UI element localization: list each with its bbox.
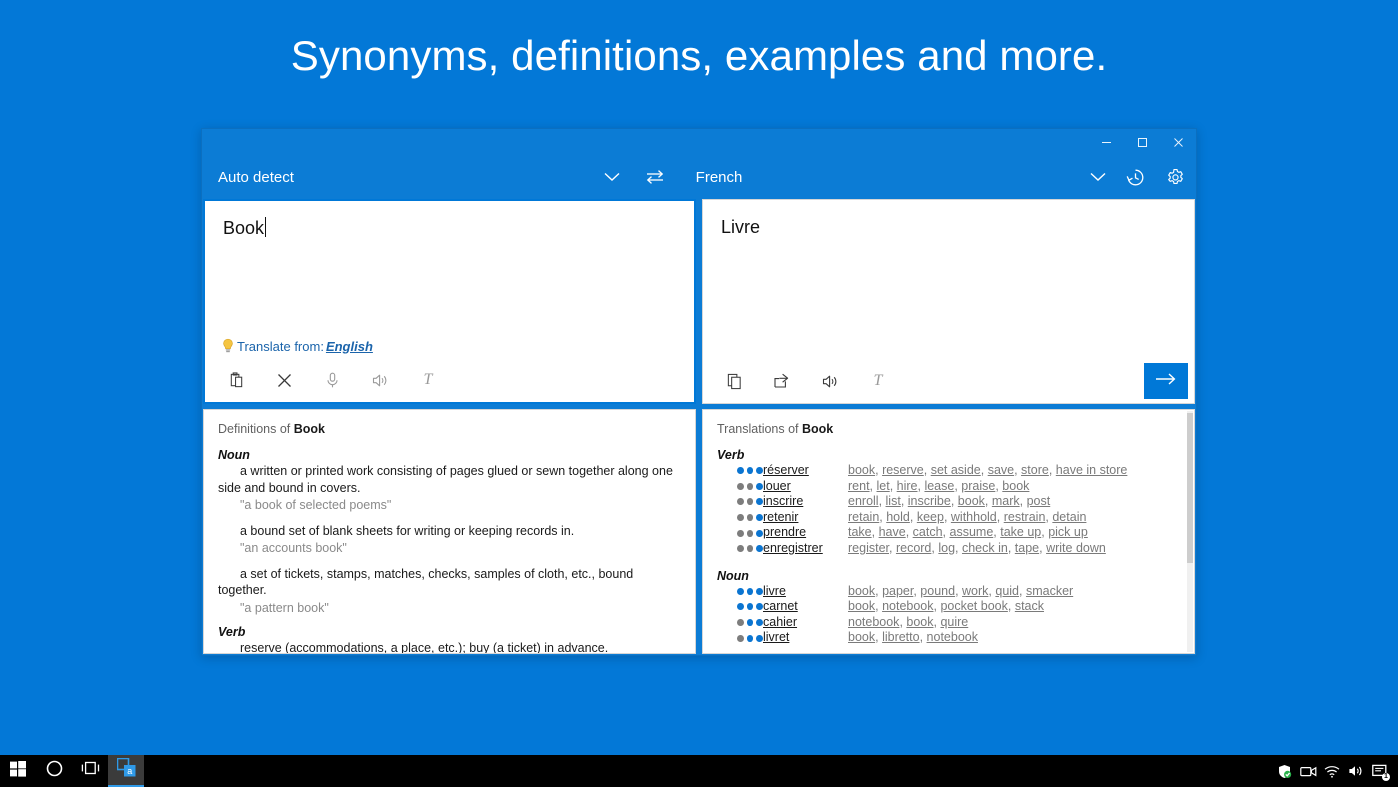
close-button[interactable] [1160, 129, 1196, 155]
definitions-card: Definitions of Book Nouna written or pri… [203, 409, 696, 654]
back-translation-word[interactable]: hold [886, 510, 910, 524]
source-language-selector[interactable]: Auto detect [202, 155, 629, 199]
back-translation-word[interactable]: record [896, 541, 931, 555]
back-translation-word[interactable]: libretto [882, 630, 920, 644]
back-translation-word[interactable]: work [962, 584, 988, 598]
confidence-dot [737, 545, 744, 552]
confidence-dot [747, 530, 754, 537]
lightbulb-icon [221, 338, 235, 354]
translation-group: Verbréserverbook, reserve, set aside, sa… [717, 448, 1180, 557]
back-translation-word[interactable]: praise [961, 479, 995, 493]
confidence-dots [717, 635, 763, 642]
confidence-dot [737, 588, 744, 595]
translation-row[interactable]: inscrireenroll, list, inscribe, book, ma… [717, 494, 1180, 510]
translation-row[interactable]: carnetbook, notebook, pocket book, stack [717, 599, 1180, 615]
history-icon[interactable] [1115, 155, 1156, 199]
confidence-dots [717, 588, 763, 595]
back-translation-word[interactable]: log [938, 541, 955, 555]
translator-app-window: Auto detect French [201, 128, 1197, 656]
definition-sense: a written or printed work consisting of … [218, 463, 681, 514]
back-translations: book, paper, pound, work, quid, smacker [848, 584, 1073, 600]
camera-tray-icon[interactable] [1296, 755, 1320, 787]
back-translation-word[interactable]: book [848, 599, 875, 613]
ink-text-button[interactable]: T [413, 365, 443, 395]
back-translations: take, have, catch, assume, take up, pick… [848, 525, 1088, 541]
confidence-dot [756, 635, 763, 642]
back-translation-word[interactable]: stack [1015, 599, 1044, 613]
back-translation-word[interactable]: notebook [848, 615, 899, 629]
gear-icon[interactable] [1155, 155, 1196, 199]
translate-go-button[interactable] [1144, 363, 1188, 399]
definition-example: "an accounts book" [218, 540, 681, 557]
text-t-icon: T [424, 371, 433, 389]
confidence-dots [717, 483, 763, 490]
translator-app-icon: a [117, 758, 136, 782]
back-translations: rent, let, hire, lease, praise, book [848, 479, 1029, 495]
back-translation-word[interactable]: notebook [927, 630, 978, 644]
chevron-down-icon[interactable] [1081, 155, 1115, 199]
back-translation-word[interactable]: catch [913, 525, 943, 539]
translation-row[interactable]: livrebook, paper, pound, work, quid, sma… [717, 584, 1180, 600]
target-toolbar: T [703, 359, 1194, 403]
back-translation-word[interactable]: paper [882, 584, 913, 598]
back-translation-word[interactable]: set aside [931, 463, 981, 477]
share-button[interactable] [767, 366, 797, 396]
notification-badge: 1 [1382, 773, 1390, 781]
swap-languages-button[interactable] [629, 155, 679, 199]
confidence-dot [737, 635, 744, 642]
back-translations: register, record, log, check in, tape, w… [848, 541, 1106, 557]
confidence-dot [747, 635, 754, 642]
confidence-dot [737, 483, 744, 490]
translation-row[interactable]: enregistrerregister, record, log, check … [717, 541, 1180, 557]
translator-app-button[interactable]: a [108, 755, 144, 787]
target-text-card: Livre [702, 199, 1195, 404]
translations-scrollbar-thumb[interactable] [1187, 413, 1193, 563]
back-translation-word[interactable]: book [848, 463, 875, 477]
system-tray: 1 [1272, 755, 1398, 787]
translations-card: Translations of Book Verbréserverbook, r… [702, 409, 1195, 654]
copy-button[interactable] [719, 366, 749, 396]
back-translation-word[interactable]: register [848, 541, 889, 555]
translation-row[interactable]: réserverbook, reserve, set aside, save, … [717, 463, 1180, 479]
back-translation-word[interactable]: keep [917, 510, 944, 524]
confidence-dot [756, 498, 763, 505]
windows-taskbar: a [0, 755, 1398, 787]
back-translation-word[interactable]: mark [992, 494, 1020, 508]
translation-row[interactable]: cahiernotebook, book, quire [717, 615, 1180, 631]
confidence-dot [737, 603, 744, 610]
back-translation-word[interactable]: store [1021, 463, 1049, 477]
translation-word[interactable]: louer [763, 479, 848, 495]
source-text-value: Book [223, 218, 264, 238]
cortana-button[interactable] [36, 755, 72, 787]
minimize-button[interactable] [1088, 129, 1124, 155]
translation-row[interactable]: prendretake, have, catch, assume, take u… [717, 525, 1180, 541]
window-titlebar [202, 129, 1196, 155]
back-translations: enroll, list, inscribe, book, mark, post [848, 494, 1050, 510]
confidence-dots [717, 514, 763, 521]
back-translation-word[interactable]: assume [950, 525, 994, 539]
text-caret [265, 217, 266, 237]
back-translation-word[interactable]: take up [1000, 525, 1041, 539]
back-translations: book, libretto, notebook [848, 630, 978, 646]
back-translation-word[interactable]: take [848, 525, 872, 539]
taskbar-left-items: a [0, 755, 144, 787]
confidence-dot [756, 588, 763, 595]
back-translation-word[interactable]: enroll [848, 494, 879, 508]
part-of-speech-label: Noun [717, 569, 1180, 583]
ink-text-button[interactable]: T [863, 366, 893, 396]
confidence-dot [756, 514, 763, 521]
source-text-card: Book Translate from: English [203, 199, 696, 404]
definition-text: a bound set of blank sheets for writing … [218, 523, 681, 540]
back-translation-word[interactable]: book [906, 615, 933, 629]
definition-sense: reserve (accommodations, a place, etc.);… [218, 640, 681, 654]
translation-word[interactable]: réserver [763, 463, 848, 479]
confidence-dots [717, 545, 763, 552]
volume-tray-icon[interactable] [1344, 755, 1368, 787]
confidence-dot [747, 619, 754, 626]
back-translation-word[interactable]: reserve [882, 463, 924, 477]
translation-word[interactable]: prendre [763, 525, 848, 541]
back-translation-word[interactable]: inscribe [908, 494, 951, 508]
target-text-output: Livre [703, 200, 1194, 359]
source-language-label: Auto detect [218, 169, 595, 186]
back-translation-word[interactable]: write down [1046, 541, 1106, 555]
back-translations: retain, hold, keep, withhold, restrain, … [848, 510, 1086, 526]
confidence-dots [717, 619, 763, 626]
task-view-icon [81, 761, 100, 781]
definitions-heading: Definitions of Book [218, 422, 681, 436]
confidence-dot [756, 603, 763, 610]
definition-text: a written or printed work consisting of … [218, 463, 681, 496]
definitions-heading-prefix: Definitions of [218, 422, 294, 436]
confidence-dot [747, 514, 754, 521]
back-translation-word[interactable]: detain [1052, 510, 1086, 524]
definition-example: "a book of selected poems" [218, 497, 681, 514]
confidence-dot [737, 498, 744, 505]
confidence-dot [756, 483, 763, 490]
back-translation-word[interactable]: quid [995, 584, 1019, 598]
part-of-speech-label: Verb [717, 448, 1180, 462]
circle-icon [46, 760, 63, 782]
confidence-dot [756, 467, 763, 474]
svg-text:a: a [127, 766, 132, 776]
confidence-dot [747, 588, 754, 595]
speak-button[interactable] [815, 366, 845, 396]
definition-text: a set of tickets, stamps, matches, check… [218, 566, 681, 599]
back-translation-word[interactable]: smacker [1026, 584, 1073, 598]
notifications-button[interactable]: 1 [1368, 755, 1392, 787]
back-translation-word[interactable]: post [1027, 494, 1051, 508]
target-language-label: French [696, 169, 1081, 186]
definition-text: reserve (accommodations, a place, etc.);… [218, 640, 681, 654]
back-translation-word[interactable]: let [877, 479, 890, 493]
translation-group: Nounlivrebook, paper, pound, work, quid,… [717, 569, 1180, 646]
source-text-input[interactable]: Book [205, 201, 694, 338]
definition-sense: a set of tickets, stamps, matches, check… [218, 566, 681, 617]
confidence-dot [747, 498, 754, 505]
app-body: Book Translate from: English [202, 199, 1196, 655]
translation-word[interactable]: inscrire [763, 494, 848, 510]
speak-button[interactable] [365, 365, 395, 395]
translation-row[interactable]: livretbook, libretto, notebook [717, 630, 1180, 646]
confidence-dot [737, 619, 744, 626]
back-translation-word[interactable]: hire [897, 479, 918, 493]
back-translation-word[interactable]: restrain [1004, 510, 1046, 524]
definitions-heading-term: Book [294, 422, 325, 436]
definition-example: "a pattern book" [218, 600, 681, 617]
network-tray-icon[interactable] [1320, 755, 1344, 787]
back-translation-word[interactable]: check in [962, 541, 1008, 555]
confidence-dot [756, 530, 763, 537]
confidence-dot [756, 545, 763, 552]
definition-sense: a bound set of blank sheets for writing … [218, 523, 681, 557]
back-translation-word[interactable]: withhold [951, 510, 997, 524]
translations-heading-term: Book [802, 422, 833, 436]
translation-word[interactable]: enregistrer [763, 541, 848, 557]
back-translation-word[interactable]: rent [848, 479, 870, 493]
translations-heading: Translations of Book [717, 422, 1180, 436]
confidence-dots [717, 467, 763, 474]
back-translation-word[interactable]: pick up [1048, 525, 1088, 539]
confidence-dot [747, 545, 754, 552]
translation-row[interactable]: retenirretain, hold, keep, withhold, res… [717, 510, 1180, 526]
back-translations: book, reserve, set aside, save, store, h… [848, 463, 1127, 479]
translation-word[interactable]: livret [763, 630, 848, 646]
back-translation-word[interactable]: have [879, 525, 906, 539]
windows-logo-icon [10, 761, 26, 782]
confidence-dot [747, 483, 754, 490]
translation-word[interactable]: retenir [763, 510, 848, 526]
confidence-dot [737, 530, 744, 537]
microphone-button[interactable] [317, 365, 347, 395]
translation-word[interactable]: livre [763, 584, 848, 600]
back-translation-word[interactable]: retain [848, 510, 879, 524]
confidence-dot [747, 603, 754, 610]
definitions-body: Nouna written or printed work consisting… [218, 448, 681, 654]
translate-from-label: Translate from: [237, 339, 324, 354]
back-translation-word[interactable]: book [1002, 479, 1029, 493]
back-translations: book, notebook, pocket book, stack [848, 599, 1044, 615]
source-toolbar: T [205, 358, 694, 402]
confidence-dot [737, 514, 744, 521]
target-language-selector[interactable]: French [680, 155, 1115, 199]
window-controls [1088, 129, 1196, 155]
confidence-dots [717, 530, 763, 537]
detected-language-link[interactable]: English [326, 339, 373, 354]
text-t-icon: T [874, 372, 883, 390]
translate-from-hint: Translate from: English [205, 338, 694, 358]
page-title: Synonyms, definitions, examples and more… [0, 32, 1398, 80]
target-column: Livre [702, 199, 1195, 654]
back-translation-word[interactable]: save [988, 463, 1014, 477]
arrow-right-icon [1155, 372, 1177, 391]
back-translation-word[interactable]: pound [920, 584, 955, 598]
confidence-dot [737, 467, 744, 474]
back-translation-word[interactable]: lease [924, 479, 954, 493]
language-bar: Auto detect French [202, 155, 1196, 199]
security-tray-icon[interactable] [1272, 755, 1296, 787]
confidence-dot [747, 467, 754, 474]
translations-heading-prefix: Translations of [717, 422, 802, 436]
chevron-down-icon[interactable] [595, 155, 629, 199]
part-of-speech-label: Noun [218, 448, 681, 462]
translation-word[interactable]: cahier [763, 615, 848, 631]
source-column: Book Translate from: English [203, 199, 696, 654]
translations-body: Verbréserverbook, reserve, set aside, sa… [717, 448, 1180, 646]
back-translation-word[interactable]: book [848, 630, 875, 644]
back-translation-word[interactable]: pocket book [940, 599, 1007, 613]
clear-button[interactable] [269, 365, 299, 395]
paste-button[interactable] [221, 365, 251, 395]
back-translation-word[interactable]: book [848, 584, 875, 598]
back-translation-word[interactable]: quire [940, 615, 968, 629]
confidence-dots [717, 498, 763, 505]
translation-row[interactable]: louerrent, let, hire, lease, praise, boo… [717, 479, 1180, 495]
translation-word[interactable]: carnet [763, 599, 848, 615]
start-button[interactable] [0, 755, 36, 787]
confidence-dot [756, 619, 763, 626]
back-translation-word[interactable]: notebook [882, 599, 933, 613]
back-translation-word[interactable]: have in store [1056, 463, 1128, 477]
back-translation-word[interactable]: book [958, 494, 985, 508]
task-view-button[interactable] [72, 755, 108, 787]
part-of-speech-label: Verb [218, 625, 681, 639]
back-translations: notebook, book, quire [848, 615, 968, 631]
back-translation-word[interactable]: list [886, 494, 901, 508]
back-translation-word[interactable]: tape [1015, 541, 1039, 555]
confidence-dots [717, 603, 763, 610]
maximize-button[interactable] [1124, 129, 1160, 155]
